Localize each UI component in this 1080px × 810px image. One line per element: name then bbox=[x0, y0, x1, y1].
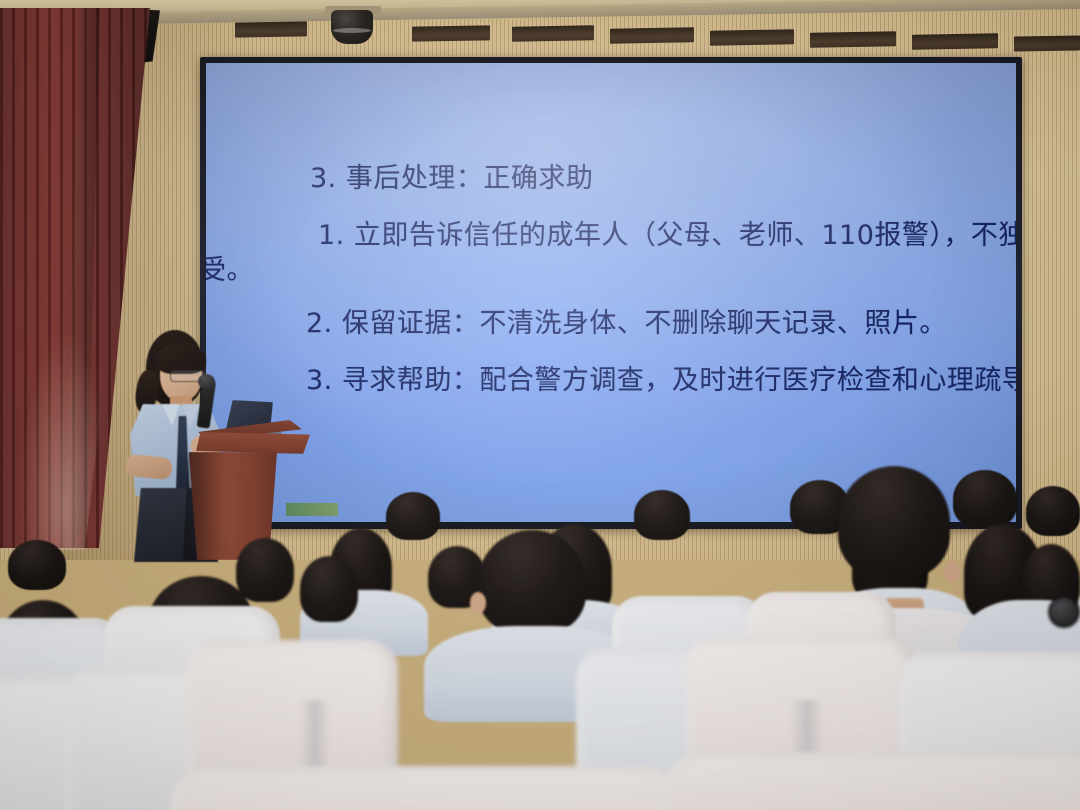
audience-head bbox=[634, 490, 690, 540]
slide-heading: 3. 事后处理：正确求助 bbox=[310, 163, 593, 194]
audience-head bbox=[478, 530, 586, 634]
audience-head bbox=[953, 470, 1017, 528]
audience-head bbox=[300, 556, 358, 622]
chair-cover bbox=[170, 766, 690, 810]
slide-line-2: 2. 保留证据：不清洗身体、不删除聊天记录、照片。 bbox=[306, 308, 947, 339]
projection-screen: 3. 事后处理：正确求助 1. 立即告诉信任的成年人（父母、老师、110报警），… bbox=[206, 63, 1016, 522]
slide-line-1a: 1. 立即告诉信任的成年人（父母、老师、110报警），不独 bbox=[318, 220, 1016, 251]
ceiling-vent bbox=[1014, 35, 1080, 51]
ceiling-vent bbox=[810, 31, 896, 48]
audience-head bbox=[8, 540, 66, 590]
dome-camera-band bbox=[333, 28, 371, 33]
podium-shadow bbox=[183, 452, 229, 560]
audience-head bbox=[838, 466, 950, 578]
ceiling-vent bbox=[412, 25, 490, 41]
slide-green-accent bbox=[286, 503, 338, 516]
slide-content: 3. 事后处理：正确求助 1. 立即告诉信任的成年人（父母、老师、110报警），… bbox=[206, 63, 1016, 522]
slide-line-3: 3. 寻求帮助：配合警方调查，及时进行医疗检查和心理疏导。 bbox=[306, 365, 1016, 396]
wristwatch-icon bbox=[1048, 596, 1080, 628]
audience-ear bbox=[944, 560, 960, 582]
ceiling-vent bbox=[610, 27, 694, 43]
ceiling-vent bbox=[512, 25, 594, 41]
presenter-arm-left bbox=[125, 454, 173, 481]
ceiling-vent bbox=[912, 33, 998, 50]
podium-top bbox=[196, 432, 310, 454]
slide-line-1b: 自承受。 bbox=[206, 255, 254, 286]
ceiling-vent bbox=[710, 29, 794, 45]
audience-head bbox=[386, 492, 440, 540]
audience-ear bbox=[470, 592, 486, 614]
auditorium-photo: 3. 事后处理：正确求助 1. 立即告诉信任的成年人（父母、老师、110报警），… bbox=[0, 0, 1080, 810]
dome-camera-icon bbox=[331, 10, 373, 44]
audience-head bbox=[1026, 486, 1080, 536]
ceiling-vent bbox=[235, 21, 307, 37]
chair-cover bbox=[660, 752, 1080, 810]
audience-head bbox=[236, 538, 294, 602]
